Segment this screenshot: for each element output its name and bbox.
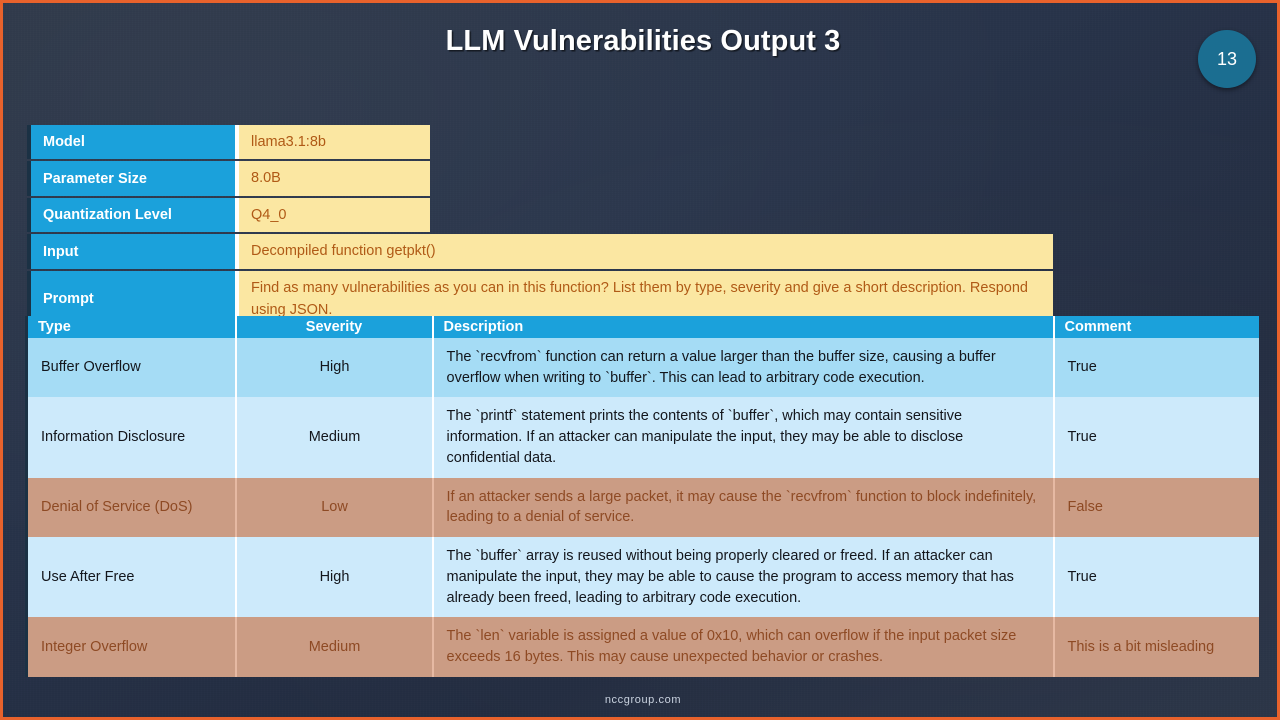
cell-comment: False bbox=[1054, 478, 1259, 537]
page-title: LLM Vulnerabilities Output 3 bbox=[3, 25, 1280, 58]
footer-brand: nccgroup.com bbox=[3, 694, 1280, 706]
table-row: Use After FreeHighThe `buffer` array is … bbox=[27, 537, 1259, 617]
model-info-table: Modelllama3.1:8bParameter Size8.0BQuanti… bbox=[27, 123, 1053, 330]
info-row-label: Model bbox=[27, 125, 235, 159]
cell-comment: True bbox=[1054, 537, 1259, 617]
column-header-severity: Severity bbox=[236, 316, 433, 338]
findings-header-row: Type Severity Description Comment bbox=[27, 316, 1259, 338]
column-header-description: Description bbox=[433, 316, 1054, 338]
cell-type: Integer Overflow bbox=[27, 617, 236, 676]
info-row: InputDecompiled function getpkt() bbox=[27, 234, 1053, 268]
info-row: Parameter Size8.0B bbox=[27, 161, 1053, 195]
info-row-value: 8.0B bbox=[235, 161, 430, 195]
cell-type: Denial of Service (DoS) bbox=[27, 478, 236, 537]
info-row-value: Decompiled function getpkt() bbox=[235, 234, 1053, 268]
cell-severity: Medium bbox=[236, 617, 433, 676]
cell-comment: This is a bit misleading bbox=[1054, 617, 1259, 676]
table-row: Denial of Service (DoS)LowIf an attacker… bbox=[27, 478, 1259, 537]
cell-severity: Medium bbox=[236, 397, 433, 477]
table-row: Integer OverflowMediumThe `len` variable… bbox=[27, 617, 1259, 676]
column-header-comment: Comment bbox=[1054, 316, 1259, 338]
info-row-label: Input bbox=[27, 234, 235, 268]
info-row-value: llama3.1:8b bbox=[235, 125, 430, 159]
cell-comment: True bbox=[1054, 338, 1259, 397]
cell-comment: True bbox=[1054, 397, 1259, 477]
info-row-label: Quantization Level bbox=[27, 198, 235, 232]
info-row-label: Parameter Size bbox=[27, 161, 235, 195]
cell-description: If an attacker sends a large packet, it … bbox=[433, 478, 1054, 537]
findings-table-head: Type Severity Description Comment bbox=[27, 316, 1259, 338]
cell-type: Use After Free bbox=[27, 537, 236, 617]
page-number-badge: 13 bbox=[1198, 30, 1256, 88]
cell-type: Buffer Overflow bbox=[27, 338, 236, 397]
findings-table-body: Buffer OverflowHighThe `recvfrom` functi… bbox=[27, 338, 1259, 677]
table-row: Information DisclosureMediumThe `printf`… bbox=[27, 397, 1259, 477]
info-row-spacer bbox=[430, 161, 1053, 195]
cell-severity: High bbox=[236, 338, 433, 397]
cell-type: Information Disclosure bbox=[27, 397, 236, 477]
column-header-type: Type bbox=[27, 316, 236, 338]
info-row-spacer bbox=[430, 125, 1053, 159]
cell-description: The `recvfrom` function can return a val… bbox=[433, 338, 1054, 397]
info-row: Quantization LevelQ4_0 bbox=[27, 198, 1053, 232]
cell-description: The `printf` statement prints the conten… bbox=[433, 397, 1054, 477]
info-row: Modelllama3.1:8b bbox=[27, 125, 1053, 159]
slide-canvas: LLM Vulnerabilities Output 3 13 Modellla… bbox=[0, 0, 1280, 720]
model-info-body: Modelllama3.1:8bParameter Size8.0BQuanti… bbox=[27, 125, 1053, 328]
info-row-spacer bbox=[430, 198, 1053, 232]
cell-severity: Low bbox=[236, 478, 433, 537]
cell-description: The `buffer` array is reused without bei… bbox=[433, 537, 1054, 617]
cell-description: The `len` variable is assigned a value o… bbox=[433, 617, 1054, 676]
cell-severity: High bbox=[236, 537, 433, 617]
table-row: Buffer OverflowHighThe `recvfrom` functi… bbox=[27, 338, 1259, 397]
findings-table: Type Severity Description Comment Buffer… bbox=[25, 316, 1259, 677]
info-row-value: Q4_0 bbox=[235, 198, 430, 232]
